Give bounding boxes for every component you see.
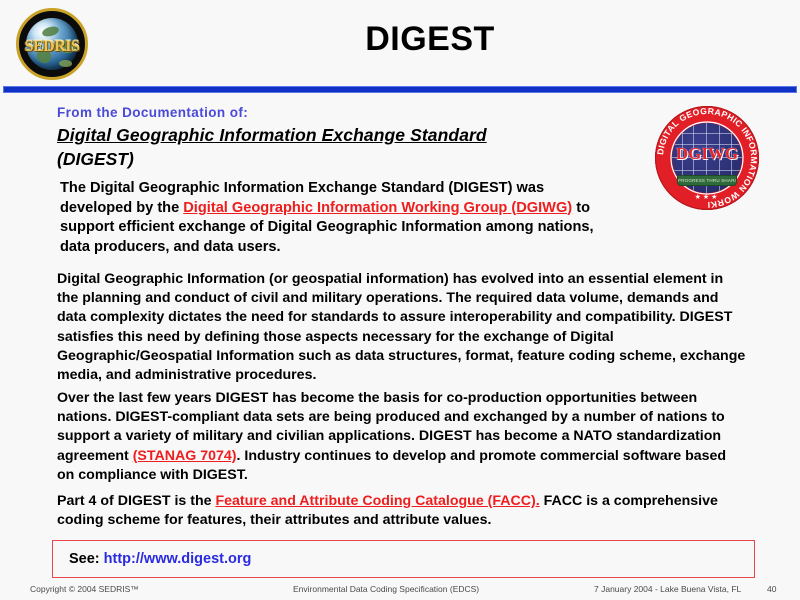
facc-link[interactable]: Feature and Attribute Coding Catalogue (… xyxy=(215,493,539,509)
dgiwg-center-text: DGIWG xyxy=(655,144,759,164)
paragraph-text: Part 4 of DIGEST is the xyxy=(57,493,215,509)
document-title-acronym: (DIGEST) xyxy=(57,149,134,170)
see-reference-text: See: http://www.digest.org xyxy=(69,551,251,567)
sedris-wordmark: SEDRIS xyxy=(19,39,85,55)
globe-landmass xyxy=(41,25,60,39)
stanag-link[interactable]: (STANAG 7074) xyxy=(133,448,237,464)
slide-header: SEDRIS DIGEST xyxy=(0,0,800,88)
paragraph-overview: Digital Geographic Information (or geosp… xyxy=(57,270,747,385)
page-title: DIGEST xyxy=(100,20,760,59)
footer-copyright: Copyright © 2004 SEDRIS™ xyxy=(30,584,139,594)
footer-event-info: 7 January 2004 - Lake Buena Vista, FL xyxy=(594,584,741,594)
dgiwg-link[interactable]: Digital Geographic Information Working G… xyxy=(183,200,572,216)
from-documentation-label: From the Documentation of: xyxy=(57,105,248,120)
digest-url-link[interactable]: http://www.digest.org xyxy=(104,551,252,567)
dgiwg-stars: ★★★ xyxy=(655,194,759,202)
paragraph-adoption: Over the last few years DIGEST has becom… xyxy=(57,389,747,485)
see-reference-box: See: http://www.digest.org xyxy=(52,540,755,578)
header-divider xyxy=(3,86,797,93)
footer-page-number: 40 xyxy=(767,584,776,594)
paragraph-facc: Part 4 of DIGEST is the Feature and Attr… xyxy=(57,492,747,530)
sedris-logo-icon: SEDRIS xyxy=(16,8,88,80)
slide-footer: Copyright © 2004 SEDRIS™ Environmental D… xyxy=(0,582,800,600)
dgiwg-banner: PROGRESS THRU SHARING xyxy=(677,175,737,186)
slide-canvas: SEDRIS DIGEST From the Documentation of:… xyxy=(0,0,800,600)
see-label: See: xyxy=(69,551,100,567)
paragraph-intro: The Digital Geographic Information Excha… xyxy=(60,179,620,257)
dgiwg-banner-text: PROGRESS THRU SHARING xyxy=(678,176,736,185)
footer-spec-name: Environmental Data Coding Specification … xyxy=(293,584,479,594)
document-title: Digital Geographic Information Exchange … xyxy=(57,125,487,146)
dgiwg-logo-icon: DIGITAL GEOGRAPHIC INFORMATION WORKING G… xyxy=(655,106,759,210)
globe-landmass xyxy=(59,60,72,67)
